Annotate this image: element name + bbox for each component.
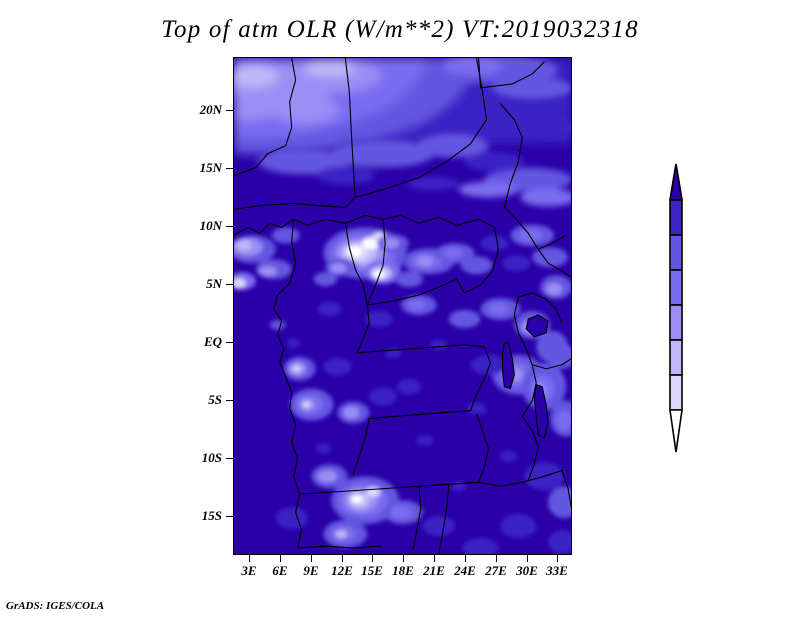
colorbar-swatches [660, 160, 720, 460]
x-tick [280, 555, 281, 562]
y-tick [226, 400, 233, 401]
y-axis-label-10S: 10S [202, 450, 222, 466]
grads-plot-window: Top of atm OLR (W/m**2) VT:2019032318 [0, 0, 800, 618]
x-tick [557, 555, 558, 562]
y-axis-label-20N: 20N [200, 102, 222, 118]
x-tick [342, 555, 343, 562]
y-axis-label-10N: 10N [200, 218, 222, 234]
grads-attribution: GrADS: IGES/COLA [6, 600, 104, 612]
x-tick [403, 555, 404, 562]
x-tick [311, 555, 312, 562]
x-tick [372, 555, 373, 562]
y-axis-label-15S: 15S [202, 508, 222, 524]
x-tick [496, 555, 497, 562]
y-tick [226, 458, 233, 459]
x-tick [434, 555, 435, 562]
y-tick [226, 284, 233, 285]
y-axis-label-15N: 15N [200, 160, 222, 176]
y-axis-label-5S: 5S [208, 392, 222, 408]
y-tick [226, 226, 233, 227]
y-tick [226, 516, 233, 517]
x-tick [527, 555, 528, 562]
y-axis-label-5N: 5N [206, 276, 222, 292]
x-axis-label-33E: 33E [537, 563, 577, 579]
y-axis-label-EQ: EQ [204, 334, 222, 350]
y-tick [226, 110, 233, 111]
map-plot-area [233, 57, 572, 555]
x-tick [465, 555, 466, 562]
x-tick [249, 555, 250, 562]
olr-heatmap [234, 58, 571, 554]
page-title: Top of atm OLR (W/m**2) VT:2019032318 [0, 16, 800, 44]
y-tick [226, 168, 233, 169]
colorbar: 250 225 200 175 150 125 100 [660, 160, 790, 460]
y-tick [226, 342, 233, 343]
